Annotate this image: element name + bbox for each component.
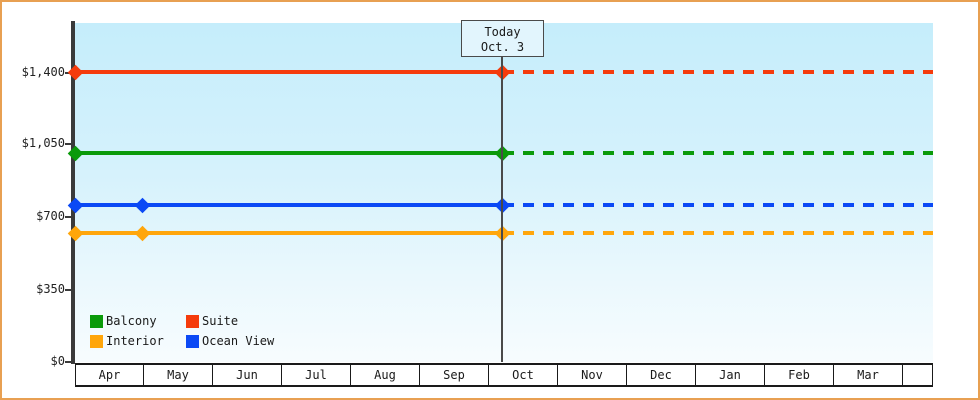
legend-swatch-interior-icon [90, 335, 103, 348]
series-line-interior-forecast [503, 231, 933, 235]
legend-swatch-balcony-icon [90, 315, 103, 328]
legend-item-balcony[interactable]: Balcony [90, 314, 186, 328]
legend-item-suite[interactable]: Suite [186, 314, 238, 328]
legend-row-2: Interior Ocean View [90, 331, 274, 351]
legend-item-interior[interactable]: Interior [90, 334, 186, 348]
y-tick-700 [65, 216, 73, 218]
x-axis-month-table: Apr May Jun Jul Aug Sep Oct Nov Dec Jan … [75, 363, 933, 387]
y-tick-350 [65, 289, 73, 291]
today-annotation-box[interactable]: Today Oct. 3 [461, 20, 544, 57]
x-axis-month-dec[interactable]: Dec [627, 365, 696, 385]
x-axis-month-feb[interactable]: Feb [765, 365, 834, 385]
legend-label-ocean-view: Ocean View [202, 334, 274, 348]
y-axis-label-700-wrap: $700 [2, 210, 65, 222]
y-tick-1050 [65, 143, 73, 145]
legend-swatch-suite-icon [186, 315, 199, 328]
y-axis-label-350-wrap: $350 [2, 283, 65, 295]
y-axis-label-1050-wrap: $1,050 [2, 137, 65, 149]
legend-item-ocean-view[interactable]: Ocean View [186, 334, 274, 348]
y-axis-label-1400: $1,400 [22, 66, 65, 78]
y-axis-label-0: $0 [51, 355, 65, 367]
y-axis-label-350: $350 [36, 283, 65, 295]
legend-label-balcony: Balcony [106, 314, 157, 328]
x-axis-month-aug[interactable]: Aug [351, 365, 420, 385]
x-axis-month-nov[interactable]: Nov [558, 365, 627, 385]
today-marker-line [501, 23, 503, 362]
today-annotation-line2: Oct. 3 [462, 40, 543, 55]
today-annotation-line1: Today [462, 25, 543, 40]
x-axis-month-oct[interactable]: Oct [489, 365, 558, 385]
chart-frame: $1,400 $1,050 $700 $350 $0 Today Oct. 3 [0, 0, 980, 400]
y-axis-label-0-wrap: $0 [2, 355, 65, 367]
x-axis-month-jun[interactable]: Jun [213, 365, 282, 385]
series-line-suite-forecast [503, 70, 933, 74]
x-axis-month-jan[interactable]: Jan [696, 365, 765, 385]
y-axis-label-1400-wrap: $1,400 [2, 66, 65, 78]
series-line-ocean-view-forecast [503, 203, 933, 207]
y-axis-label-1050: $1,050 [22, 137, 65, 149]
series-line-suite-historical [75, 70, 503, 74]
y-tick-0 [65, 361, 73, 363]
legend-label-suite: Suite [202, 314, 238, 328]
series-line-balcony-forecast [503, 151, 933, 155]
x-axis-month-sep[interactable]: Sep [420, 365, 489, 385]
x-axis-month-mar[interactable]: Mar [834, 365, 903, 385]
series-line-balcony-historical [75, 151, 503, 155]
chart-legend: Balcony Suite Interior Ocean View [90, 311, 274, 351]
legend-row-1: Balcony Suite [90, 311, 274, 331]
y-axis-label-700: $700 [36, 210, 65, 222]
x-axis-month-tail [903, 365, 933, 385]
x-axis-month-jul[interactable]: Jul [282, 365, 351, 385]
x-axis-month-apr[interactable]: Apr [75, 365, 144, 385]
x-axis-month-may[interactable]: May [144, 365, 213, 385]
legend-swatch-ocean-view-icon [186, 335, 199, 348]
legend-label-interior: Interior [106, 334, 164, 348]
